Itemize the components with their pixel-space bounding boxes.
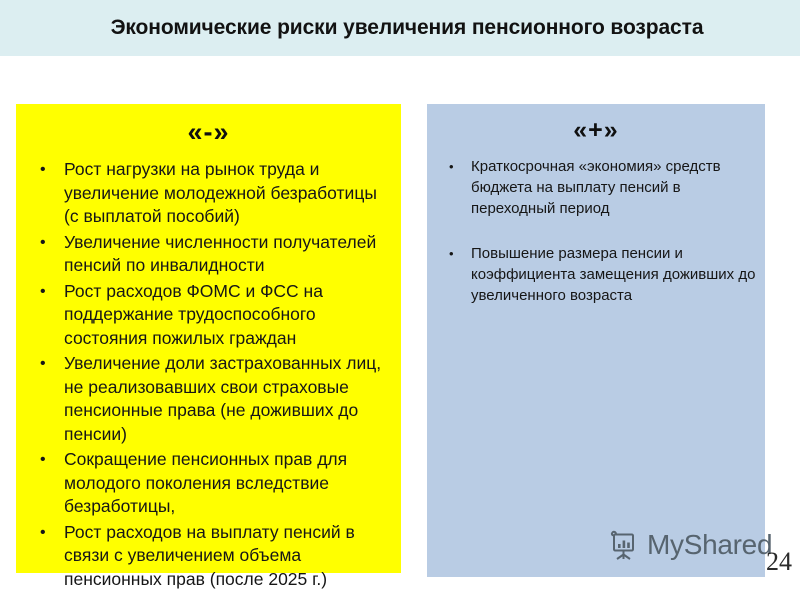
list-item: • Сокращение пенсионных прав для молодог…: [26, 448, 393, 519]
bullet-icon: •: [40, 521, 46, 545]
list-item: • Рост нагрузки на рынок труда и увеличе…: [26, 158, 393, 229]
panel-positive-heading: «+»: [427, 104, 765, 156]
list-item-text: Сокращение пенсионных прав для молодого …: [64, 448, 393, 519]
list-item: • Повышение размера пенсии и коэффициент…: [435, 243, 757, 306]
page-number: 24: [766, 549, 792, 575]
bullet-icon: •: [40, 280, 46, 304]
panel-negative-heading: «-»: [16, 104, 401, 158]
list-item-text: Рост расходов ФОМС и ФСС на поддержание …: [64, 280, 393, 351]
list-item-text: Повышение размера пенсии и коэффициента …: [471, 243, 757, 306]
list-item-text: Рост нагрузки на рынок труда и увеличени…: [64, 158, 393, 229]
list-item-text: Увеличение доли застрахованных лиц, не р…: [64, 352, 393, 446]
bullet-icon: •: [40, 158, 46, 182]
panel-negative: «-» • Рост нагрузки на рынок труда и уве…: [16, 104, 401, 573]
watermark-label: MyShared: [647, 531, 772, 559]
list-item: • Краткосрочная «экономия» средств бюдже…: [435, 156, 757, 219]
bullet-icon: •: [40, 231, 46, 255]
list-item-text: Рост расходов на выплату пенсий в связи …: [64, 521, 393, 592]
list-item-text: Увеличение численности получателей пенси…: [64, 231, 393, 278]
slide-canvas: Экономические риски увеличения пенсионно…: [0, 0, 800, 600]
watermark: MyShared: [607, 528, 772, 562]
list-item: • Увеличение доли застрахованных лиц, не…: [26, 352, 393, 446]
panel-positive: «+» • Краткосрочная «экономия» средств б…: [427, 104, 765, 577]
bullet-icon: •: [449, 156, 454, 177]
list-item: • Рост расходов на выплату пенсий в связ…: [26, 521, 393, 592]
list-item-text: Краткосрочная «экономия» средств бюджета…: [471, 156, 757, 219]
panel-positive-list: • Краткосрочная «экономия» средств бюдже…: [435, 156, 757, 306]
bullet-icon: •: [40, 352, 46, 376]
list-item: • Увеличение численности получателей пен…: [26, 231, 393, 278]
page-title: Экономические риски увеличения пенсионно…: [0, 0, 800, 56]
bullet-icon: •: [449, 243, 454, 264]
list-item: • Рост расходов ФОМС и ФСС на поддержани…: [26, 280, 393, 351]
panel-negative-list: • Рост нагрузки на рынок труда и увеличе…: [26, 158, 393, 591]
flipchart-bar-chart-icon: [607, 528, 641, 562]
bullet-icon: •: [40, 448, 46, 472]
